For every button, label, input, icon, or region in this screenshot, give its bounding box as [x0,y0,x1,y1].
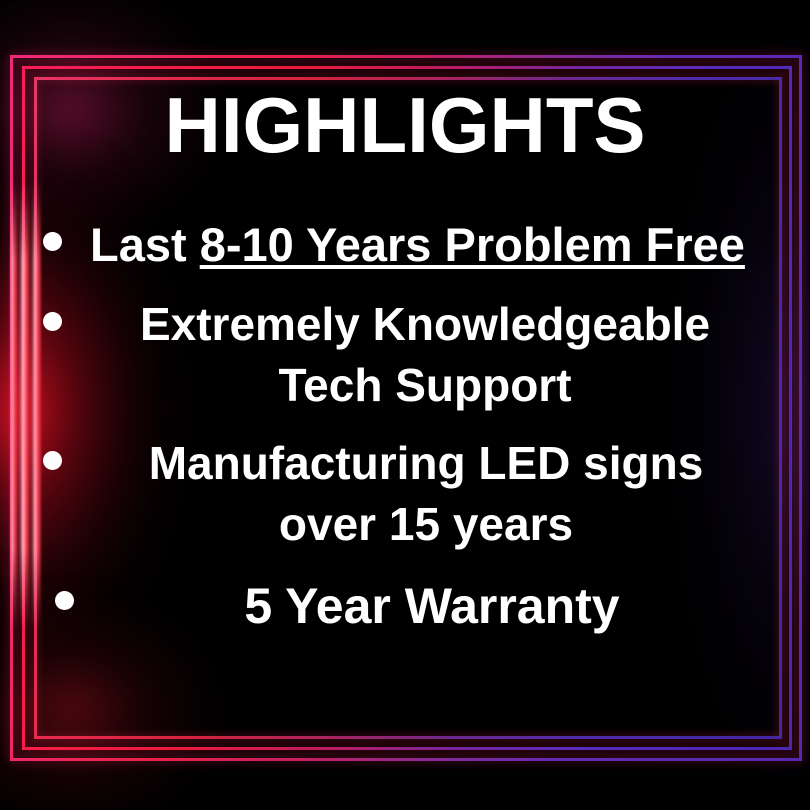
list-item: Extremely Knowledgeable Tech Support [0,294,810,415]
bullet-dot-icon [55,591,74,610]
bullet-dot-icon [43,451,62,470]
list-item-label: 5 Year Warranty [74,573,810,639]
highlights-list: Last 8-10 Years Problem Free Extremely K… [0,214,810,657]
list-item-label: Extremely Knowledgeable Tech Support [62,294,810,415]
list-item-label: Manufacturing LED signs over 15 years [62,433,810,554]
list-item-lead: Last [90,218,200,271]
bullet-dot-icon [43,232,62,251]
bullet-dot-icon [43,312,62,331]
list-item: Manufacturing LED signs over 15 years [0,433,810,554]
list-item-label: Last 8-10 Years Problem Free [62,214,810,276]
list-item: Last 8-10 Years Problem Free [0,214,810,276]
page-title: HIGHLIGHTS [0,86,810,164]
list-item-emphasis: 8-10 Years Problem Free [200,218,745,271]
list-item: 5 Year Warranty [0,573,810,639]
highlights-poster: HIGHLIGHTS Last 8-10 Years Problem Free … [0,0,810,810]
poster-content: HIGHLIGHTS Last 8-10 Years Problem Free … [0,0,810,810]
